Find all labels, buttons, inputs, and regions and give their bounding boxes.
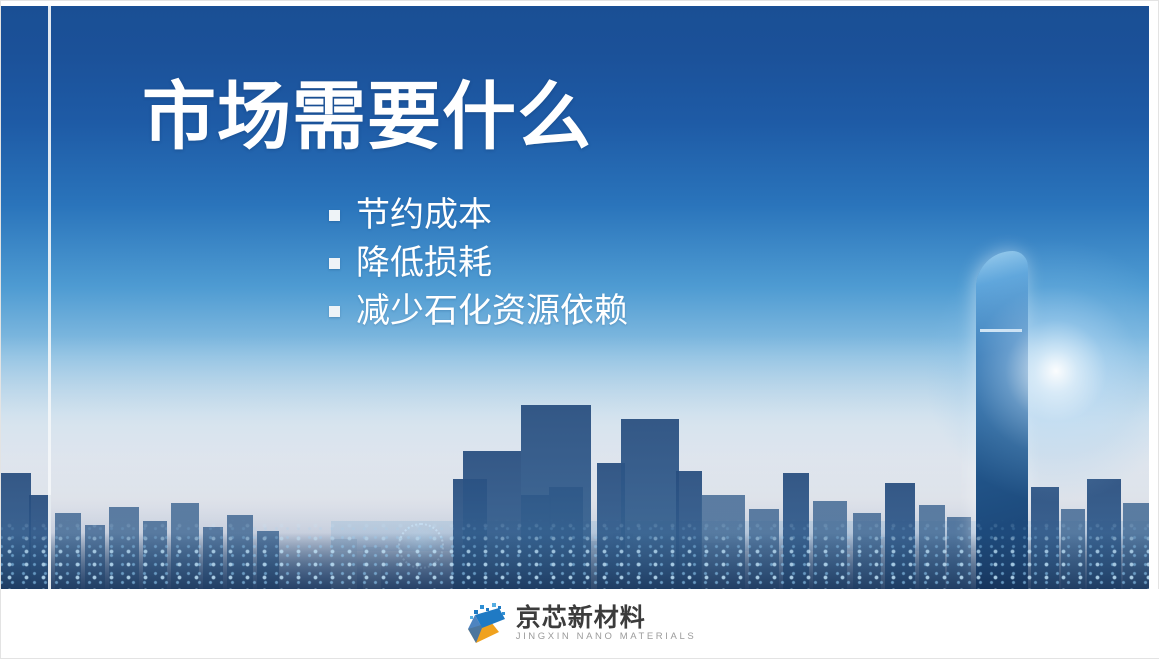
slide-canvas: 市场需要什么 节约成本 降低损耗 减少石化资源依赖 <box>0 0 1159 659</box>
page-title: 市场需要什么 <box>142 80 592 154</box>
logo-name-en: JINGXIN NANO MATERIALS <box>516 632 697 642</box>
list-item-label: 节约成本 <box>356 198 492 232</box>
square-bullet-icon <box>329 210 340 221</box>
left-accent-rule <box>48 6 51 591</box>
list-item: 减少石化资源依赖 <box>329 287 628 335</box>
list-item-label: 减少石化资源依赖 <box>356 294 628 328</box>
company-logo: 京芯新材料 JINGXIN NANO MATERIALS <box>465 602 697 646</box>
city-skyline <box>1 341 1149 591</box>
light-trail-dots <box>1 519 1149 591</box>
square-bullet-icon <box>329 258 340 269</box>
bullet-list: 节约成本 降低损耗 减少石化资源依赖 <box>329 191 628 335</box>
square-bullet-icon <box>329 306 340 317</box>
logo-name-cn: 京芯新材料 <box>516 605 697 631</box>
logo-text-group: 京芯新材料 JINGXIN NANO MATERIALS <box>516 605 697 642</box>
footer-bar: 京芯新材料 JINGXIN NANO MATERIALS <box>1 589 1159 658</box>
list-item: 降低损耗 <box>329 239 628 287</box>
list-item: 节约成本 <box>329 191 628 239</box>
pixel-arrow-logo-icon <box>465 602 507 646</box>
list-item-label: 降低损耗 <box>356 246 492 280</box>
